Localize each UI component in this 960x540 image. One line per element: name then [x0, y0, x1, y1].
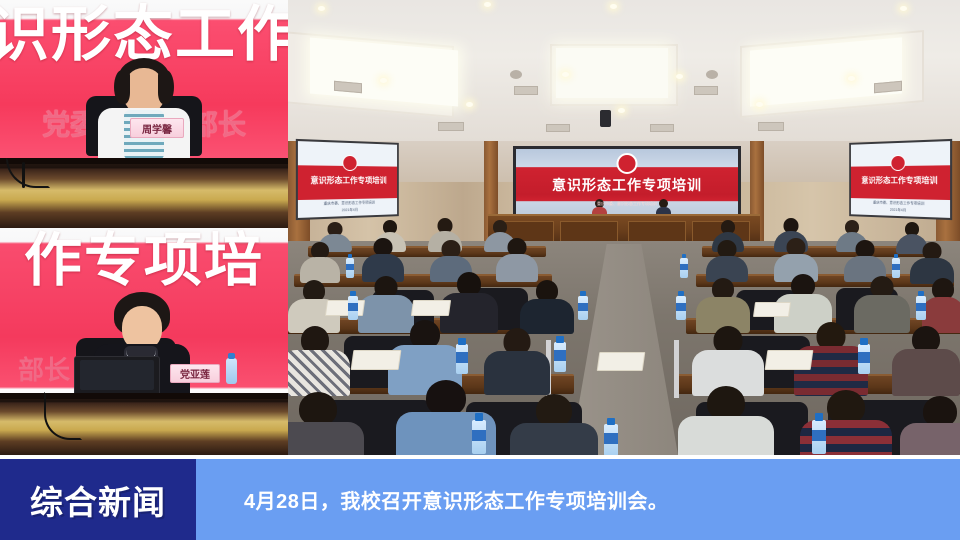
news-category-label: 综合新闻: [30, 476, 166, 524]
attendee-head: [827, 390, 865, 424]
attendee: [892, 326, 960, 394]
caption-text-area: 4月28日，我校召开意识形态工作专项培训会。: [196, 459, 960, 540]
screenshot-root: 识形态工作 党委 宣传部部长 周学馨: [0, 0, 960, 540]
attendee: [692, 326, 764, 394]
speaker-nameplate-2: 党亚莲: [170, 364, 220, 383]
ceiling-vent-mid: [514, 86, 538, 95]
attendee: [706, 240, 748, 280]
bottle-label: [604, 433, 618, 444]
attendee: [496, 238, 538, 280]
attendee: [288, 326, 350, 392]
ceiling: [288, 0, 960, 141]
water-bottle: [578, 296, 588, 320]
laptop-screen: [74, 356, 160, 396]
attendee-head: [426, 380, 466, 416]
downlight-3: [610, 4, 617, 9]
ceiling-speaker-left: [510, 70, 522, 79]
attendee: [922, 278, 960, 332]
photo-collage: 识形态工作 党委 宣传部部长 周学馨: [0, 0, 960, 455]
emblem-icon: [342, 154, 357, 170]
downlight-11: [618, 108, 625, 113]
photo-top-left: 识形态工作 党委 宣传部部长 周学馨: [0, 0, 288, 228]
ceiling-light-panel-center: [556, 48, 668, 98]
ceiling-vent-mid2: [694, 86, 718, 95]
banner-subtitle-text-2: 部长: [18, 350, 70, 387]
water-bottle: [680, 258, 688, 278]
downlight-9: [466, 102, 473, 107]
side-screen-left-title: 意识形态工作专项培训: [310, 175, 386, 186]
downlight-10: [756, 102, 763, 107]
attendee-body: [892, 349, 960, 396]
attendee: [696, 278, 750, 332]
speaker-hair-side-left: [114, 70, 130, 104]
bottle-label: [916, 303, 926, 311]
side-screen-right: 意识形态工作专项培训 重庆市委、意识形态工作专项培训 2021年4月: [849, 139, 952, 220]
attendee-front: [510, 394, 598, 455]
photo-bottom-left: 作专项培 部长 党亚莲: [0, 228, 288, 455]
side-screen-left-subtitle-2: 2021年4月: [342, 208, 358, 214]
water-bottle: [676, 296, 686, 320]
downlight-2: [484, 2, 491, 7]
ceiling-vent-low-3: [650, 124, 674, 132]
projector-unit: [600, 110, 611, 127]
bottle-label: [348, 303, 358, 311]
water-bottle: [456, 344, 468, 374]
notebook: [753, 302, 791, 317]
water-bottle: [226, 358, 237, 384]
photo-main-conference-hall: 意识形态工作专项培训 重庆市委、意识形态工作专项培训 2021年4月 意识形态工…: [288, 0, 960, 455]
downlight-7: [676, 74, 683, 79]
water-bottle: [348, 296, 358, 320]
downlight-5: [380, 78, 387, 83]
news-category-badge: 综合新闻: [0, 459, 196, 540]
bottle-label: [578, 303, 588, 311]
attendee: [844, 240, 886, 280]
water-bottle: [346, 258, 354, 278]
water-bottle: [858, 344, 870, 374]
bottle-label: [472, 430, 486, 442]
bottle-label: [456, 352, 468, 362]
head-table-panel: [560, 221, 618, 242]
side-screen-right-subtitle-2: 2021年4月: [890, 208, 906, 214]
side-screen-right-title: 意识形态工作专项培训: [861, 175, 937, 186]
bottle-label: [676, 303, 686, 311]
notebook: [411, 300, 451, 316]
attendee: [362, 238, 404, 280]
attendee: [520, 280, 574, 332]
water-bottle: [812, 420, 826, 454]
attendee-body: [496, 254, 538, 282]
downlight-6: [562, 72, 569, 77]
attendee-body: [678, 416, 774, 455]
side-screen-left: 意识形态工作专项培训 重庆市委、意识形态工作专项培训 2021年4月: [296, 139, 399, 220]
water-bottle: [892, 258, 900, 278]
caption-bar: 综合新闻 4月28日，我校召开意识形态工作专项培训会。: [0, 459, 960, 540]
emblem-icon: [617, 153, 638, 174]
bottle-label: [346, 264, 354, 271]
stage-screen-subtitle: 重庆市委、意识形态工作专项培训: [597, 201, 657, 207]
head-table-panel: [628, 221, 686, 242]
notebook: [351, 350, 402, 370]
notebook: [325, 300, 365, 316]
water-bottle: [916, 296, 926, 320]
attendee-body: [510, 423, 598, 455]
ceiling-vent-low-4: [758, 122, 784, 131]
speaker-nameplate: 周学馨: [130, 118, 184, 138]
speaker-hair-side-right: [158, 70, 174, 104]
attendee-head: [299, 392, 337, 426]
attendee: [300, 242, 340, 280]
left-photo-column: 识形态工作 党委 宣传部部长 周学馨: [0, 0, 288, 455]
bottle-label: [680, 264, 688, 271]
attendee-front: [900, 396, 960, 455]
attendee-body: [900, 423, 960, 455]
downlight-1: [318, 6, 325, 11]
water-bottle: [472, 420, 486, 454]
emblem-icon: [890, 154, 905, 170]
downlight-4: [900, 6, 907, 11]
attendee-body: [288, 350, 350, 396]
bottle-label: [892, 264, 900, 271]
banner-headline-text-2: 作专项培: [24, 230, 264, 292]
notebook: [597, 352, 646, 371]
banner-headline-text: 识形态工作: [0, 4, 288, 66]
bottle-label: [812, 430, 826, 442]
attendee-front: [678, 386, 774, 455]
attendee: [910, 242, 954, 282]
bottle-label: [858, 352, 870, 362]
ceiling-vent-low-2: [546, 124, 570, 132]
attendee-body: [288, 422, 364, 455]
notebook: [765, 350, 814, 370]
caption-text: 4月28日，我校召开意识形态工作专项培训会。: [196, 485, 668, 514]
attendee-head: [707, 386, 745, 420]
downlight-8: [848, 76, 855, 81]
bottle-label: [554, 350, 566, 360]
stage-screen-title: 意识形态工作专项培训: [552, 175, 702, 195]
speaker-figure: [92, 58, 196, 158]
ceiling-vent-low-1: [438, 122, 464, 131]
ceiling-speaker-right: [706, 70, 718, 79]
attendee-front: [288, 392, 364, 455]
water-bottle: [554, 342, 566, 372]
water-bottle: [604, 424, 618, 455]
